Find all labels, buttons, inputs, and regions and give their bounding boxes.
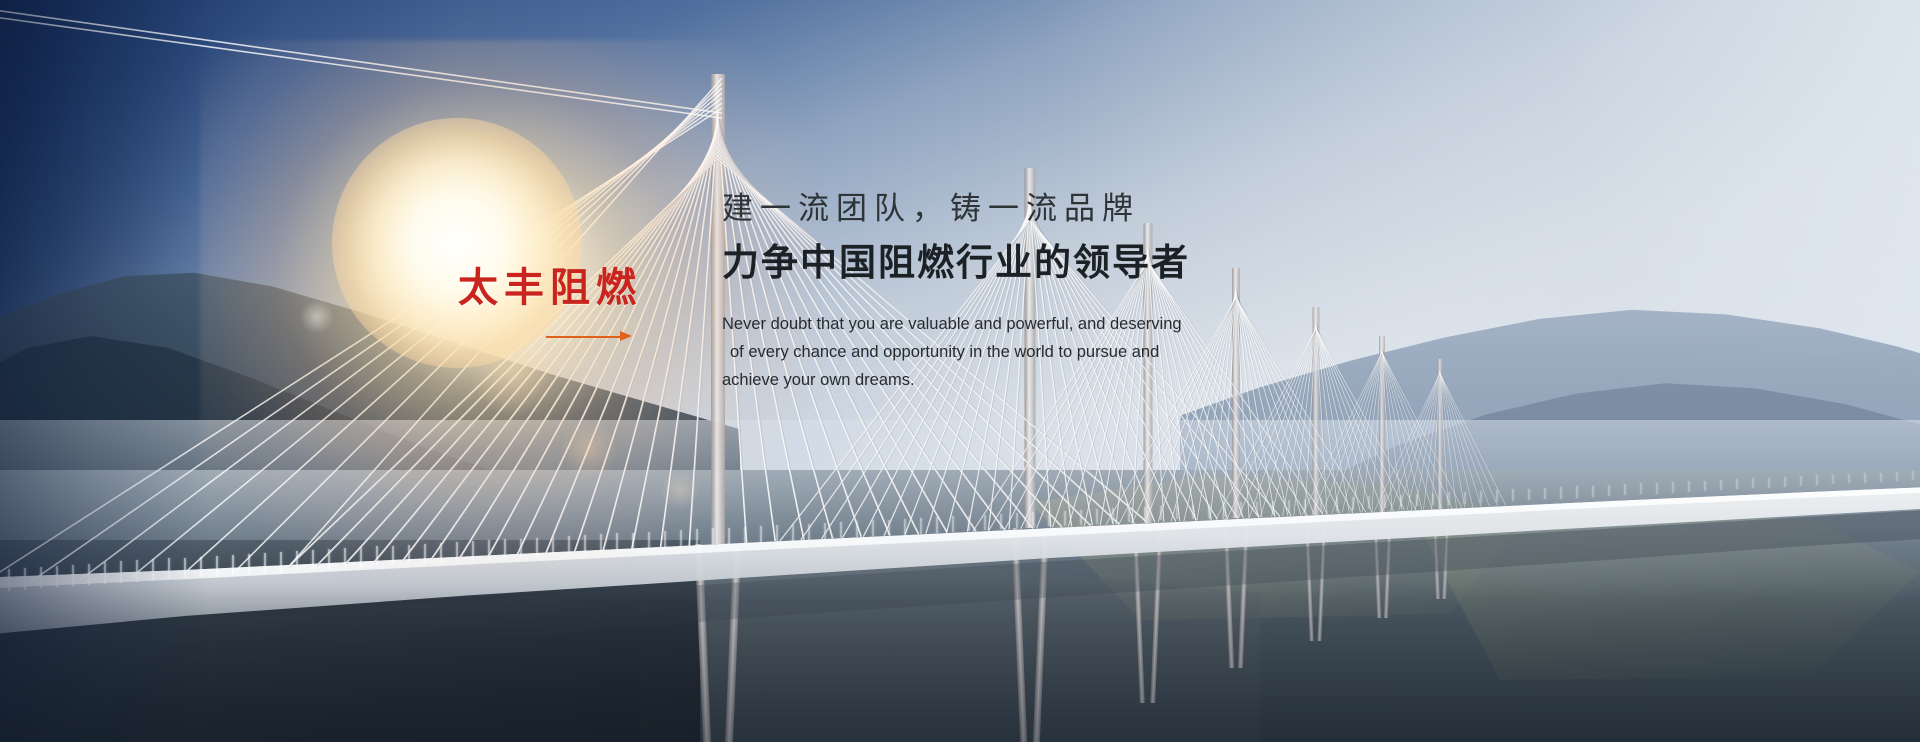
banner-content: 太丰阻燃 建一流团队，铸一流品牌 力争中国阻燃行业的领导者 Never doub…	[0, 0, 1920, 742]
hero-banner: 太丰阻燃 建一流团队，铸一流品牌 力争中国阻燃行业的领导者 Never doub…	[0, 0, 1920, 742]
arrow-shaft	[546, 336, 622, 338]
subtext-line: Never doubt that you are valuable and po…	[722, 310, 1182, 338]
headline-primary: 建一流团队，铸一流品牌	[722, 190, 1322, 227]
arrow-right-icon	[546, 330, 632, 342]
arrow-head	[620, 331, 632, 341]
brand-logo[interactable]: 太丰阻燃	[458, 268, 658, 342]
subtext-line: achieve your own dreams.	[722, 366, 1182, 394]
banner-subtext: Never doubt that you are valuable and po…	[722, 310, 1182, 395]
brand-wordmark: 太丰阻燃	[458, 268, 658, 308]
banner-copy: 建一流团队，铸一流品牌 力争中国阻燃行业的领导者 Never doubt tha…	[722, 190, 1322, 395]
headline-secondary: 力争中国阻燃行业的领导者	[722, 241, 1322, 285]
subtext-line: of every chance and opportunity in the w…	[722, 338, 1182, 366]
